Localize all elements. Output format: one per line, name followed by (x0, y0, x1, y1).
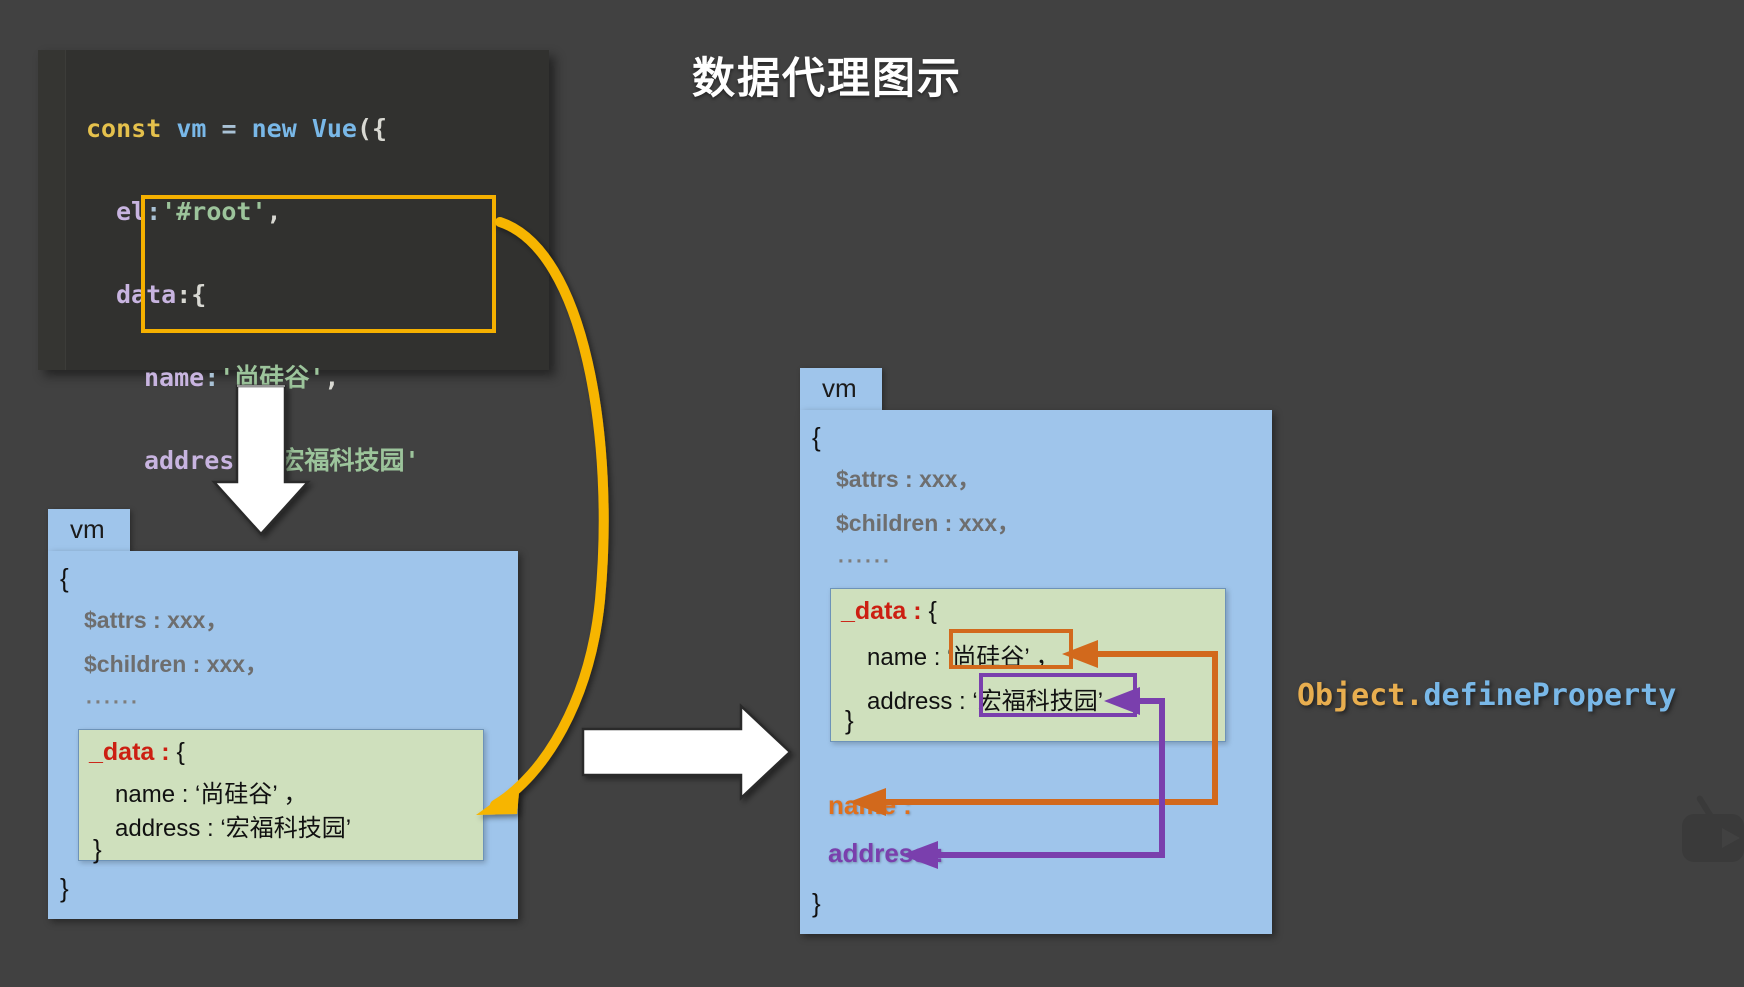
right-data-key: _data : { (841, 597, 937, 626)
left-data-row-address: address : ‘宏福科技园’ (115, 808, 351, 843)
code-token-address-value: '宏福科技园' (264, 446, 419, 475)
code-line: name:'尚硅谷', (86, 357, 545, 399)
code-token-data: data (116, 280, 176, 309)
left-vm-tab: vm (48, 509, 130, 551)
left-vm-prop-children: $children : xxx， (84, 645, 268, 679)
odp-dot-token: . (1405, 678, 1423, 713)
left-vm-body: { $attrs : xxx， $children : xxx， ······ … (48, 551, 518, 919)
code-token-name-value: '尚硅谷' (219, 363, 324, 392)
right-data-box: _data : { name : ‘尚硅谷’ ， address : ‘宏福科技… (830, 588, 1226, 742)
code-line: const vm = new Vue({ (86, 108, 545, 150)
right-vm-tab-label: vm (822, 373, 857, 404)
slide-canvas: 数据代理图示 const vm = new Vue({ el:'#root', … (0, 0, 1744, 987)
left-vm-prop-ellipsis: ······ (86, 691, 140, 715)
left-vm-open-brace: { (60, 563, 69, 594)
left-data-box: _data : { name : ‘尚硅谷’ ， address : ‘宏福科技… (78, 729, 484, 861)
right-vm-accessor-name: name : (828, 790, 912, 821)
code-token-root: '#root' (161, 197, 266, 226)
odp-method-token: defineProperty (1423, 678, 1676, 713)
name-value-highlight-box (949, 629, 1073, 669)
left-data-row-name: name : ‘尚硅谷’ ， (115, 774, 307, 809)
code-gutter (38, 50, 66, 370)
object-define-property-label: Object.defineProperty (1297, 678, 1676, 713)
right-vm-object: vm { $attrs : xxx， $children : xxx， ····… (800, 368, 1272, 934)
page-title: 数据代理图示 (692, 44, 962, 106)
right-vm-accessor-address: address : (828, 838, 944, 869)
bilibili-watermark-icon (1674, 786, 1744, 882)
code-line: address:'宏福科技园' (86, 440, 545, 482)
code-token-vue: Vue (312, 114, 357, 143)
code-line: data:{ (86, 274, 545, 316)
code-token-el: el (116, 197, 146, 226)
left-vm-tab-label: vm (70, 514, 105, 545)
arrow-left-vm-to-right-vm-icon (583, 706, 790, 798)
right-data-row-name-label: name : (867, 644, 947, 671)
code-token-address: address (144, 446, 249, 475)
left-vm-object: vm { $attrs : xxx， $children : xxx， ····… (48, 509, 518, 919)
code-token-name: name (144, 363, 204, 392)
right-vm-tab: vm (800, 368, 882, 410)
code-token-new: new (252, 114, 297, 143)
right-vm-prop-ellipsis: ······ (838, 550, 892, 574)
left-vm-prop-attrs: $attrs : xxx， (84, 601, 228, 635)
code-line: el:'#root', (86, 191, 545, 233)
right-vm-prop-attrs: $attrs : xxx， (836, 460, 980, 494)
left-data-key: _data : { (89, 738, 185, 767)
left-data-close-brace: } (93, 834, 102, 865)
odp-object-token: Object (1297, 678, 1405, 713)
right-vm-close-brace: } (812, 888, 821, 919)
right-data-close-brace: } (845, 705, 854, 736)
right-vm-open-brace: { (812, 422, 821, 453)
right-vm-body: { $attrs : xxx， $children : xxx， ······ … (800, 410, 1272, 934)
code-token-const: const (86, 114, 161, 143)
address-value-highlight-box (979, 673, 1137, 717)
code-panel: const vm = new Vue({ el:'#root', data:{ … (38, 50, 549, 370)
right-vm-prop-children: $children : xxx， (836, 504, 1020, 538)
left-vm-close-brace: } (60, 873, 69, 904)
code-token-vm: vm (176, 114, 206, 143)
right-data-row-address-label: address : (867, 688, 972, 715)
